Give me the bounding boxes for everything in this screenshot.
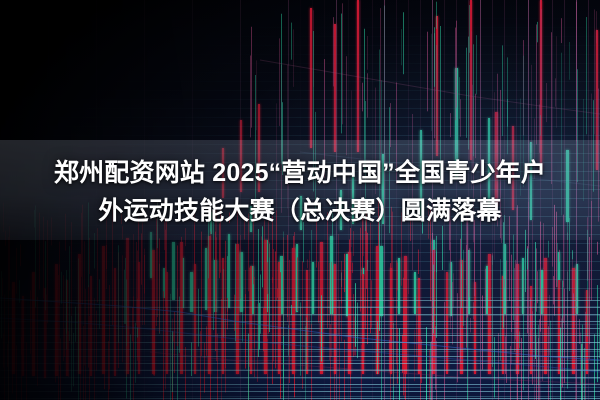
banner-image: 郑州配资网站 2025“营动中国”全国青少年户 外运动技能大赛（总决赛）圆满落幕 (0, 0, 600, 400)
headline-line-2: 外运动技能大赛（总决赛）圆满落幕 (0, 192, 600, 230)
headline-line-1: 郑州配资网站 2025“营动中国”全国青少年户 (0, 154, 600, 192)
page-title: 郑州配资网站 2025“营动中国”全国青少年户 外运动技能大赛（总决赛）圆满落幕 (0, 154, 600, 230)
